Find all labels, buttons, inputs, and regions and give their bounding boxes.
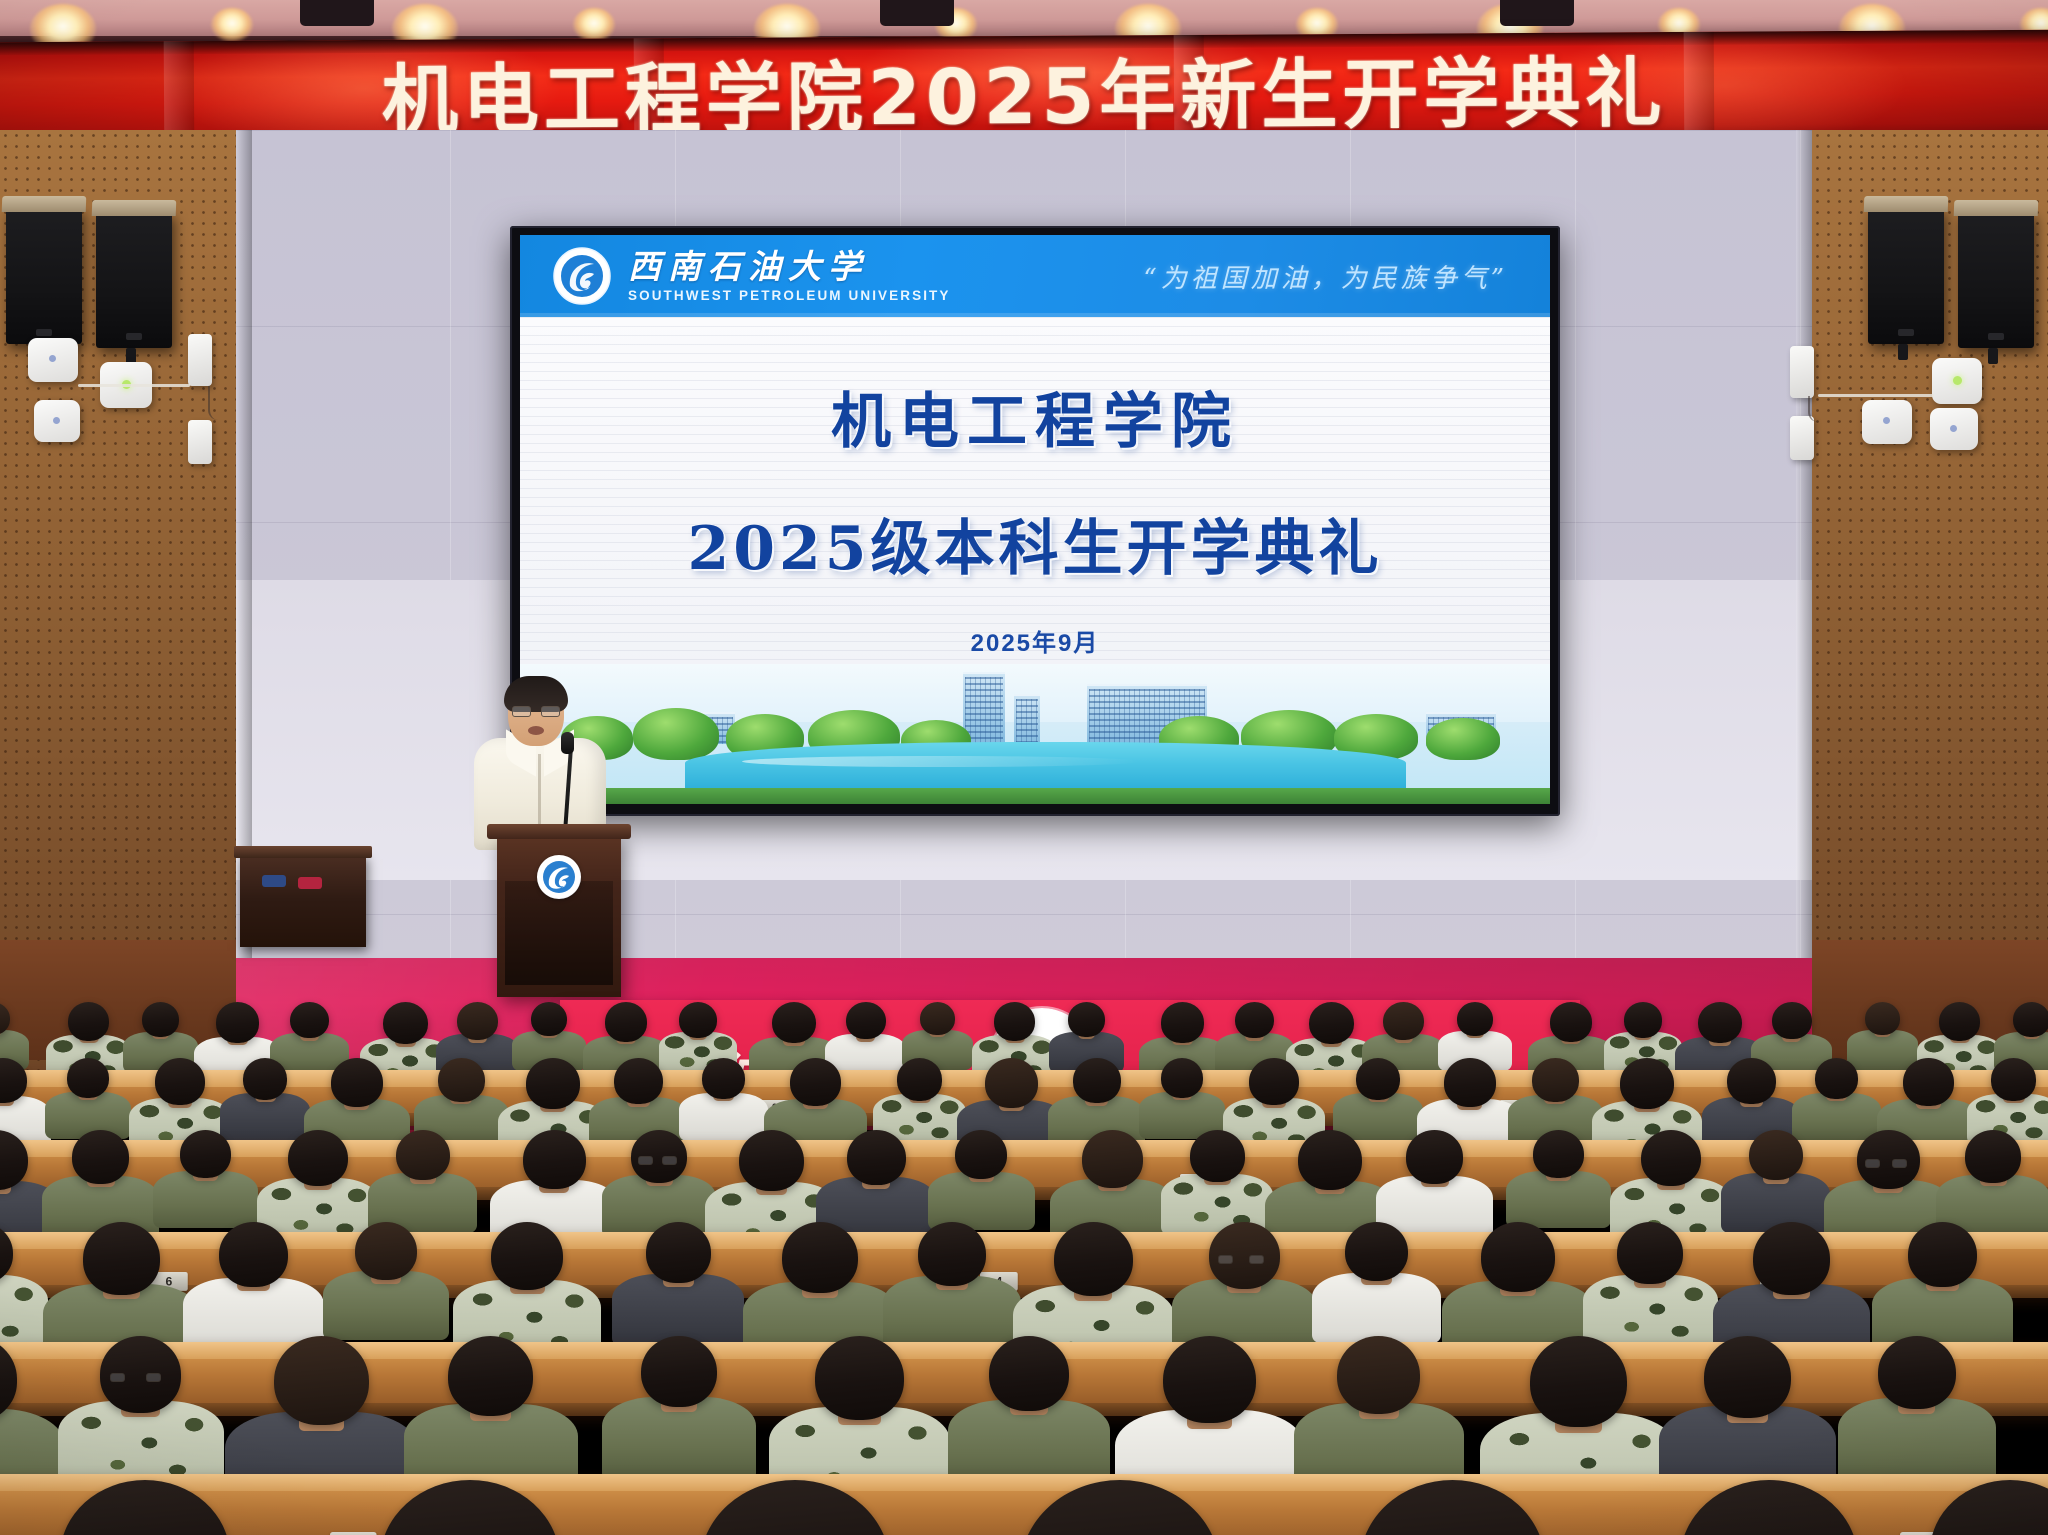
audience-person-head xyxy=(1190,1130,1245,1182)
light-switch-icon[interactable] xyxy=(1790,346,1814,398)
light-switch-icon[interactable] xyxy=(188,334,212,386)
audience-person-head xyxy=(605,1002,647,1042)
audience-person-head xyxy=(1704,1336,1791,1418)
audience-person-head xyxy=(1337,1336,1420,1414)
audience-person-head xyxy=(1533,1130,1584,1178)
audience-person-head xyxy=(438,1058,485,1102)
audience-person-head xyxy=(1815,1058,1858,1099)
audience-person-head xyxy=(1865,1002,1900,1035)
audience-person-head xyxy=(989,1336,1069,1411)
audience-person-head xyxy=(243,1058,287,1100)
audience-person-head xyxy=(641,1336,717,1407)
loudspeaker-cabinet xyxy=(6,208,82,344)
audience-person-head xyxy=(1624,1002,1662,1038)
audience-person-head xyxy=(1068,1002,1105,1037)
loudspeaker-cabinet xyxy=(1868,208,1944,344)
audience-person-head xyxy=(1444,1058,1496,1107)
speaker-bracket xyxy=(1898,344,1908,360)
audience-person-head xyxy=(1163,1336,1256,1423)
audience-person-head xyxy=(396,1130,450,1180)
header-slogan: “为祖国加油，为民族争气” xyxy=(1143,258,1508,295)
audience-person-head xyxy=(72,1130,129,1184)
lectern xyxy=(497,835,621,997)
presentation-slide: 西南石油大学 SOUTHWEST PETROLEUM UNIVERSITY “为… xyxy=(520,235,1550,804)
audience-person-head xyxy=(1641,1130,1701,1186)
audience-person-head xyxy=(142,1002,179,1037)
device-led-icon xyxy=(1953,376,1962,385)
audience-person-head xyxy=(67,1058,109,1098)
audience-person-head xyxy=(457,1002,498,1040)
speaker-mouth xyxy=(528,726,544,735)
audience-person-torso xyxy=(0,1275,48,1349)
audience-person-head xyxy=(1406,1130,1463,1184)
device-conduit xyxy=(1818,394,1934,397)
audience-person-head xyxy=(1082,1130,1143,1188)
university-name-block: 西南石油大学 SOUTHWEST PETROLEUM UNIVERSITY xyxy=(628,249,951,303)
audience-person-head xyxy=(1298,1130,1362,1190)
audience-person-head xyxy=(1698,1002,1742,1043)
audience-person-head xyxy=(846,1002,886,1039)
campus-panorama-photo xyxy=(520,664,1550,804)
audience-person-head xyxy=(1309,1002,1354,1044)
slide-body: 机电工程学院 2025级本科生开学典礼 2025年9月 xyxy=(520,317,1550,804)
photo-tree xyxy=(633,708,719,760)
audience-person-head xyxy=(920,1002,955,1035)
audience-person-head xyxy=(274,1336,369,1425)
audience-person-head xyxy=(1550,1002,1592,1042)
audience-person-head xyxy=(679,1002,717,1038)
cabinet-item xyxy=(262,875,286,887)
cabinet-item xyxy=(298,877,322,889)
audience-person-head xyxy=(290,1002,329,1038)
audience-person-head xyxy=(847,1130,906,1185)
lectern-top-surface xyxy=(487,824,631,839)
device-cable xyxy=(1808,396,1822,422)
audience-person-head xyxy=(1457,1002,1493,1036)
device-indicator-dot xyxy=(49,355,56,362)
audience-area: 64642642421241 xyxy=(0,1012,2048,1535)
audience-person-head xyxy=(1965,1130,2021,1183)
slide-title-line1: 机电工程学院 xyxy=(520,373,1550,460)
device-conduit xyxy=(78,384,190,387)
eyeglasses-icon xyxy=(512,706,560,717)
audience-person-head xyxy=(288,1130,348,1186)
eyeglasses-icon xyxy=(1218,1255,1273,1264)
audience-person-head xyxy=(68,1002,109,1041)
audience-person-head xyxy=(1481,1222,1555,1292)
stage-storage-cabinet xyxy=(240,855,366,947)
ceiling-fixture-box xyxy=(300,0,374,26)
slide-title-line2: 2025级本科生开学典礼 xyxy=(520,500,1550,587)
audience-person-head xyxy=(790,1058,841,1106)
audience-person-head xyxy=(614,1058,663,1104)
ceiling-fixture-box xyxy=(880,0,954,26)
swpu-seal-logo-icon xyxy=(552,246,612,306)
university-name-en: SOUTHWEST PETROLEUM UNIVERSITY xyxy=(628,288,951,303)
eyeglasses-icon xyxy=(638,1156,682,1165)
audience-person-head xyxy=(1249,1058,1299,1105)
audience-person-head xyxy=(1235,1002,1274,1038)
audience-person-head xyxy=(1620,1058,1674,1109)
device-indicator-dot xyxy=(1883,417,1890,424)
photo-building xyxy=(1014,694,1040,746)
photo-foreground-lawn xyxy=(520,788,1550,804)
audience-person-head xyxy=(1161,1058,1203,1098)
wifi-access-point-icon xyxy=(28,338,78,382)
audience-person-head xyxy=(1617,1222,1683,1284)
speaker-bracket xyxy=(1988,348,1998,364)
audience-person-head xyxy=(1878,1336,1956,1409)
ceiling-speaker-panel-icon xyxy=(1862,400,1912,444)
audience-person-head xyxy=(1939,1002,1980,1041)
audience-person-head xyxy=(2013,1002,2048,1037)
microphone-icon xyxy=(561,732,574,754)
control-panel-icon xyxy=(34,400,80,442)
audience-person-head xyxy=(1054,1222,1133,1296)
control-panel-icon xyxy=(1930,408,1978,450)
audience-person-head xyxy=(1345,1222,1408,1281)
audience-person-head xyxy=(739,1130,804,1191)
audience-person-head xyxy=(83,1222,160,1295)
audience-person-head xyxy=(1753,1222,1830,1295)
audience-person-head xyxy=(772,1002,816,1043)
audience-person-head xyxy=(383,1002,428,1044)
audience-person-head xyxy=(1772,1002,1812,1039)
audience-person-head xyxy=(1991,1058,2036,1101)
audience-person-head xyxy=(1356,1058,1400,1100)
audience-person-head xyxy=(994,1002,1035,1041)
audience-person-head xyxy=(526,1058,580,1109)
audience-person-head xyxy=(1908,1222,1977,1287)
light-switch-icon[interactable] xyxy=(1790,416,1814,460)
eyeglasses-icon xyxy=(110,1373,174,1382)
audience-person-head xyxy=(897,1058,942,1101)
wifi-access-point-icon xyxy=(1932,358,1982,404)
audience-person-head xyxy=(1073,1058,1121,1103)
ceiling-downlight-icon xyxy=(573,8,615,42)
swpu-podium-emblem-icon xyxy=(537,855,581,899)
auditorium-photo-scene: 机电工程学院2025年新生开学典礼 xyxy=(0,0,2048,1535)
audience-person-head xyxy=(331,1058,383,1107)
audience-person-head xyxy=(955,1130,1007,1179)
audience-person-head xyxy=(1383,1002,1424,1040)
device-indicator-dot xyxy=(53,417,60,424)
audience-person-head xyxy=(1749,1130,1803,1180)
audience-person-head xyxy=(219,1222,288,1287)
slide-header-bar: 西南石油大学 SOUTHWEST PETROLEUM UNIVERSITY “为… xyxy=(520,235,1550,317)
light-switch-icon[interactable] xyxy=(188,420,212,464)
device-cable xyxy=(208,386,222,420)
eyeglasses-icon xyxy=(1865,1159,1914,1168)
audience-person-head xyxy=(1903,1058,1954,1106)
audience-person-head xyxy=(216,1002,259,1043)
audience-person-head xyxy=(918,1222,986,1286)
audience-person-head xyxy=(155,1058,205,1105)
ceiling-downlight-icon xyxy=(211,8,253,42)
audience-person-head xyxy=(180,1130,231,1178)
university-name-cn: 西南石油大学 xyxy=(628,249,951,285)
audience-person-head xyxy=(815,1336,904,1420)
device-indicator-dot xyxy=(1950,425,1957,432)
audience-person-head xyxy=(646,1222,711,1283)
audience-person-head xyxy=(531,1002,567,1036)
audience-person-head xyxy=(448,1336,533,1416)
led-display-screen[interactable]: 西南石油大学 SOUTHWEST PETROLEUM UNIVERSITY “为… xyxy=(510,226,1560,816)
audience-person-head xyxy=(702,1058,745,1099)
loudspeaker-cabinet xyxy=(1958,212,2034,348)
audience-person-head xyxy=(355,1222,417,1280)
audience-person-head xyxy=(782,1222,858,1293)
slide-date: 2025年9月 xyxy=(520,623,1550,658)
audience-person-head xyxy=(1530,1336,1627,1427)
photo-tree xyxy=(1426,718,1500,760)
audience-person-head xyxy=(1532,1058,1579,1102)
audience-person-head xyxy=(491,1222,563,1290)
audience-person-head xyxy=(985,1058,1038,1108)
wall-edge-right xyxy=(1796,130,1812,1070)
audience-person-head xyxy=(1727,1058,1776,1104)
audience-person-head xyxy=(1161,1002,1204,1043)
audience-person-head xyxy=(523,1130,586,1189)
ceiling-fixture-box xyxy=(1500,0,1574,26)
loudspeaker-cabinet xyxy=(96,212,172,348)
